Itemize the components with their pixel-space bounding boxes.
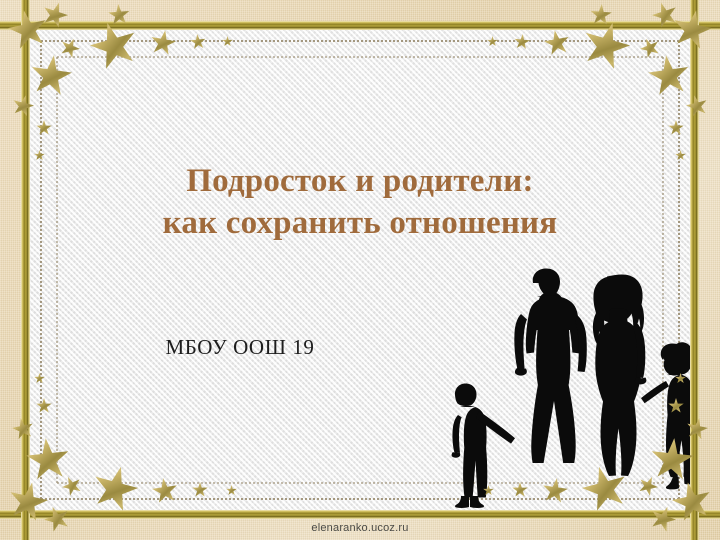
gold-rule-right	[690, 0, 699, 540]
slide-canvas: Подросток и родители: как сохранить отно…	[30, 30, 690, 510]
slide-title: Подросток и родители: как сохранить отно…	[30, 160, 690, 244]
slide-title-line-2: как сохранить отношения	[30, 202, 690, 244]
dotted-line-top	[40, 40, 680, 42]
presentation-slide: Подросток и родители: как сохранить отно…	[0, 0, 720, 540]
family-of-four-silhouette	[425, 265, 690, 510]
dotted-line-inner-left	[56, 56, 58, 484]
silhouette-shapes	[452, 268, 690, 508]
slide-title-line-1: Подросток и родители:	[30, 160, 690, 202]
dotted-line-inner-top	[56, 56, 664, 58]
dotted-line-left	[40, 40, 42, 500]
boy-silhouette	[452, 384, 515, 508]
gold-rule-left	[21, 0, 30, 540]
father-silhouette	[514, 268, 587, 463]
mother-silhouette	[593, 275, 646, 477]
slide-subtitle: МБОУ ООШ 19	[30, 335, 450, 360]
watermark-text: elenaranko.ucoz.ru	[0, 522, 720, 534]
gold-rule-bottom	[0, 510, 720, 519]
